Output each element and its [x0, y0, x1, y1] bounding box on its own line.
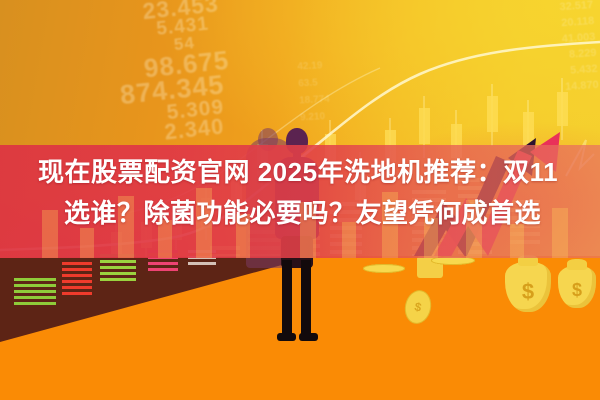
silhouette-foot-left: [277, 333, 296, 341]
coin-leaning: $: [402, 288, 435, 327]
bag-dollar-symbol: $: [522, 281, 534, 303]
silhouette-leg-left: [282, 260, 292, 338]
headline-text: 现在股票配资官网 2025年洗地机推荐：双11 选谁？除菌功能必要吗？友望凭何成…: [0, 152, 600, 234]
headline-line-2: 选谁？除菌功能必要吗？友望凭何成首选: [34, 193, 566, 234]
coin-stack: $: [363, 264, 405, 340]
money-bag: $: [505, 262, 551, 312]
silhouette-leg-right: [301, 260, 311, 338]
floor-block-green: [14, 278, 56, 308]
floor-block-lime: [100, 254, 136, 284]
coin-stack: $: [431, 256, 475, 318]
banner-image: 23.453 5.431 54 98.675 874.345 5.309 2.3…: [0, 0, 600, 400]
bag-dollar-symbol: $: [572, 281, 582, 299]
money-bag: $: [558, 266, 596, 308]
headline-line-1: 现在股票配资官网 2025年洗地机推荐：双11: [34, 152, 566, 193]
silhouette-foot-right: [299, 333, 318, 341]
coin: [363, 264, 405, 273]
coin-dollar-symbol: $: [413, 299, 422, 314]
money-group: $ $ $: [355, 250, 600, 370]
floor-block-red: [62, 262, 92, 298]
